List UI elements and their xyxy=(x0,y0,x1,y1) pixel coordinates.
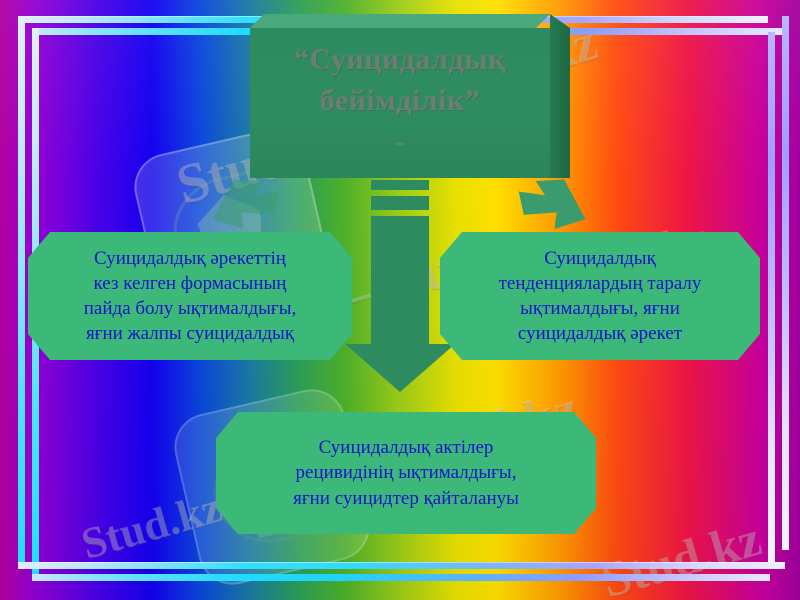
watermark-text: Stud.kz xyxy=(76,481,228,569)
concept-box-bottom-line: Суицидалдық актілер xyxy=(319,435,494,460)
concept-box-left-line: пайда болу ықтималдығы, xyxy=(84,296,296,321)
concept-box-right-line: суицидалдық әрекет xyxy=(518,321,682,346)
concept-box-left-line: кез келген формасының xyxy=(94,271,287,296)
frame-line-inner-right xyxy=(768,32,775,566)
title-box-bevel-top xyxy=(250,14,550,28)
frame-line-outer-bottom xyxy=(18,562,785,569)
title-dash: - xyxy=(264,127,536,157)
concept-box-right-line: Суицидалдық xyxy=(544,246,656,271)
concept-box-left: Суицидалдық әрекеттің кез келген формасы… xyxy=(28,232,352,360)
concept-box-bottom: Суицидалдық актілер рецивидінің ықтималд… xyxy=(216,412,596,534)
concept-box-bottom-line: рецивидінің ықтималдығы, xyxy=(296,460,517,485)
title-line-2: бейімділік” xyxy=(264,81,536,122)
concept-box-bottom-line: яғни суицидтер қайталануы xyxy=(293,486,519,511)
slide-canvas: Stud.kz Stud.kz d.kz – Stud.kz Stud.kz S… xyxy=(0,0,800,600)
frame-line-outer-right xyxy=(782,16,789,550)
arrow-dash-segment-lower xyxy=(371,196,429,210)
concept-box-left-line: Суицидалдық әрекеттің xyxy=(94,246,286,271)
title-box-bevel-right xyxy=(550,14,570,178)
concept-box-right: Суицидалдық тенденциялардың таралу ықтим… xyxy=(440,232,760,360)
concept-box-right-line: ықтималдығы, яғни xyxy=(520,296,680,321)
frame-line-outer-left xyxy=(18,16,25,562)
concept-box-left-line: яғни жалпы суицидалдық xyxy=(86,321,294,346)
arrow-dash-segment-upper xyxy=(371,180,429,190)
down-arrow-head-icon xyxy=(345,344,455,392)
title-box: “Суицидалдық бейімділік” - xyxy=(250,28,550,178)
watermark-text: Stud.kz xyxy=(595,509,767,600)
down-arrow-stem xyxy=(371,216,429,346)
frame-line-inner-bottom xyxy=(32,574,770,581)
concept-box-right-line: тенденциялардың таралу xyxy=(499,271,702,296)
title-line-1: “Суицидалдық xyxy=(264,40,536,81)
